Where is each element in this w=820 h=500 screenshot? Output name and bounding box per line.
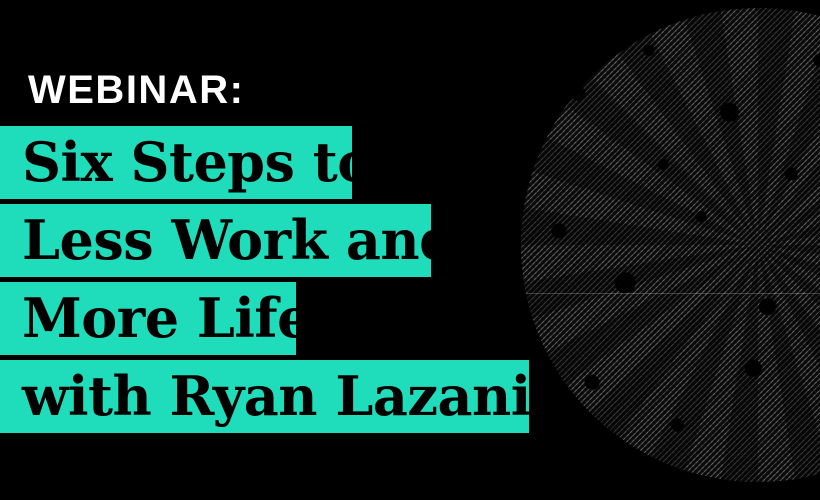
webinar-promo-canvas: WEBINAR: Six Steps to Less Work and More…	[0, 0, 820, 500]
noise-circle-graphic	[521, 8, 820, 482]
headline-line-3: More Life	[0, 282, 296, 355]
title-text-block: WEBINAR: Six Steps to Less Work and More…	[0, 0, 560, 500]
headline-line-2: Less Work and	[0, 204, 431, 277]
eyebrow-label: WEBINAR:	[28, 70, 244, 110]
headline-line-1: Six Steps to	[0, 126, 352, 199]
headline-line-4: with Ryan Lazanis	[0, 360, 529, 433]
